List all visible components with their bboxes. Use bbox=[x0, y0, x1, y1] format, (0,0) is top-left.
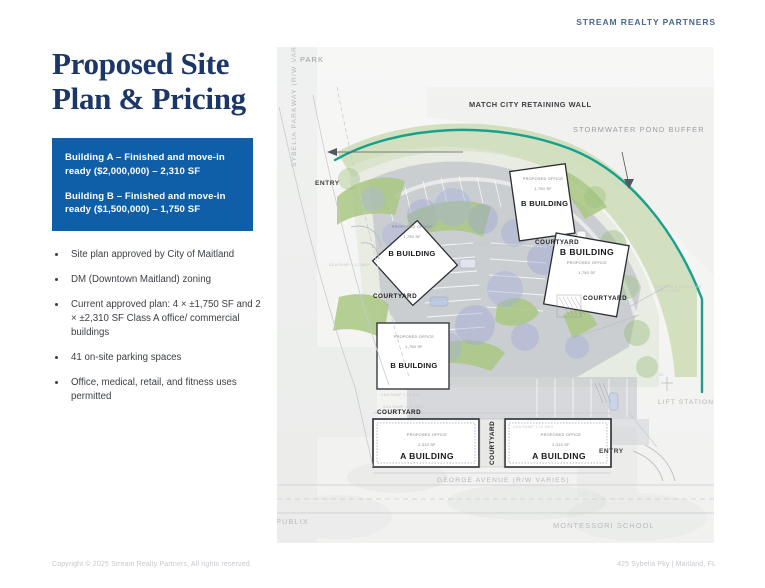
page-title-line-2: Plan & Pricing bbox=[52, 82, 264, 117]
footer-copyright: Copyright © 2025 Stream Realty Partners,… bbox=[52, 561, 252, 568]
list-item: DM (Downtown Maitland) zoning bbox=[52, 273, 264, 287]
list-item: Site plan approved by City of Maitland bbox=[52, 248, 264, 262]
left-content-column: Proposed Site Plan & Pricing Building A … bbox=[52, 47, 264, 415]
pricing-building-a: Building A – Finished and move-in ready … bbox=[65, 151, 239, 178]
pricing-callout-box: Building A – Finished and move-in ready … bbox=[52, 138, 253, 230]
page-title: Proposed Site Plan & Pricing bbox=[52, 47, 264, 116]
page-title-line-1: Proposed Site bbox=[52, 47, 264, 82]
list-item: Office, medical, retail, and fitness use… bbox=[52, 376, 264, 404]
brand-header: STREAM REALTY PARTNERS bbox=[576, 17, 716, 27]
feature-bullet-list: Site plan approved by City of Maitland D… bbox=[52, 248, 264, 404]
list-item: Current approved plan: 4 × ±1,750 SF and… bbox=[52, 298, 264, 340]
site-plan-image: PARK STORMWATER POND BUFFER MATCH CITY R… bbox=[277, 47, 714, 543]
list-item: 41 on-site parking spaces bbox=[52, 351, 264, 365]
slide-root: STREAM REALTY PARTNERS Proposed Site Pla… bbox=[0, 0, 765, 588]
footer-address: 425 Sybelia Pky | Maitland, FL bbox=[617, 561, 716, 568]
site-plan-drawing bbox=[277, 47, 714, 543]
pricing-building-b: Building B – Finished and move-in ready … bbox=[65, 190, 239, 217]
